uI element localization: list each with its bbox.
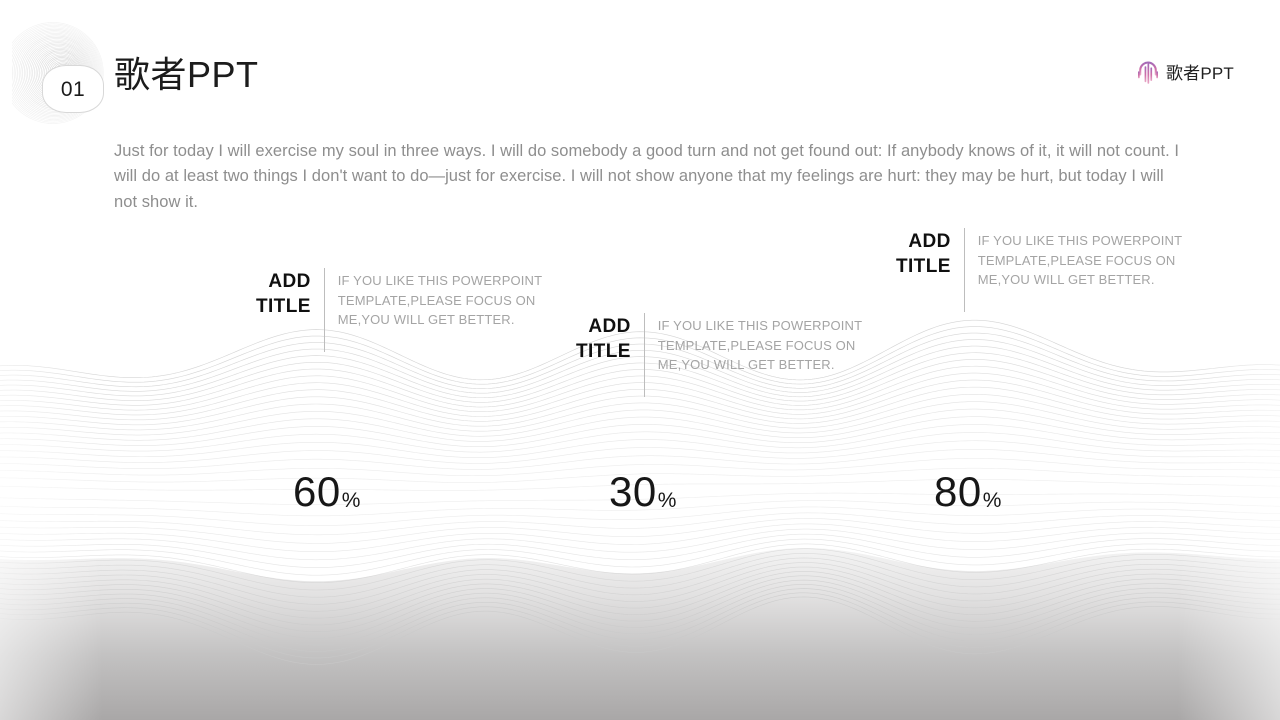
callout-divider-line: [644, 313, 645, 397]
stat-value: 60: [293, 471, 341, 513]
intro-paragraph: Just for today I will exercise my soul i…: [114, 139, 1190, 216]
stat-percentage-1: 60 %: [293, 471, 360, 513]
wave-gradient-fill: [0, 548, 1280, 720]
section-badge-number: 01: [61, 79, 85, 100]
page-title: 歌者PPT: [114, 54, 259, 95]
callout-body-text: IF YOU LIKE THIS POWERPOINT TEMPLATE,PLE…: [338, 268, 542, 330]
callout-body-text: IF YOU LIKE THIS POWERPOINT TEMPLATE,PLE…: [978, 228, 1182, 290]
callout-block-2: ADD TITLE IF YOU LIKE THIS POWERPOINT TE…: [576, 313, 862, 397]
callout-divider-line: [964, 228, 965, 312]
stat-unit: %: [658, 490, 677, 511]
stat-percentage-3: 80 %: [934, 471, 1001, 513]
callout-title: ADD TITLE: [896, 228, 951, 279]
stat-unit: %: [983, 490, 1002, 511]
sound-wave-icon: [1137, 60, 1159, 86]
section-badge: 01: [12, 21, 116, 125]
stat-value: 80: [934, 471, 982, 513]
stat-unit: %: [342, 490, 361, 511]
brand-logo[interactable]: 歌者PPT: [1137, 60, 1234, 86]
slide-header: 01 歌者PPT 歌者PPT: [0, 0, 1280, 200]
callout-title: ADD TITLE: [576, 313, 631, 364]
brand-name: 歌者PPT: [1166, 65, 1234, 82]
slide-canvas: 01 歌者PPT 歌者PPT: [0, 0, 1280, 720]
stat-value: 30: [609, 471, 657, 513]
callout-divider-line: [324, 268, 325, 352]
stat-percentage-2: 30 %: [609, 471, 676, 513]
callout-block-3: ADD TITLE IF YOU LIKE THIS POWERPOINT TE…: [896, 228, 1182, 312]
callout-body-text: IF YOU LIKE THIS POWERPOINT TEMPLATE,PLE…: [658, 313, 862, 375]
section-badge-chip: 01: [42, 65, 104, 113]
callout-block-1: ADD TITLE IF YOU LIKE THIS POWERPOINT TE…: [256, 268, 542, 352]
callout-title: ADD TITLE: [256, 268, 311, 319]
